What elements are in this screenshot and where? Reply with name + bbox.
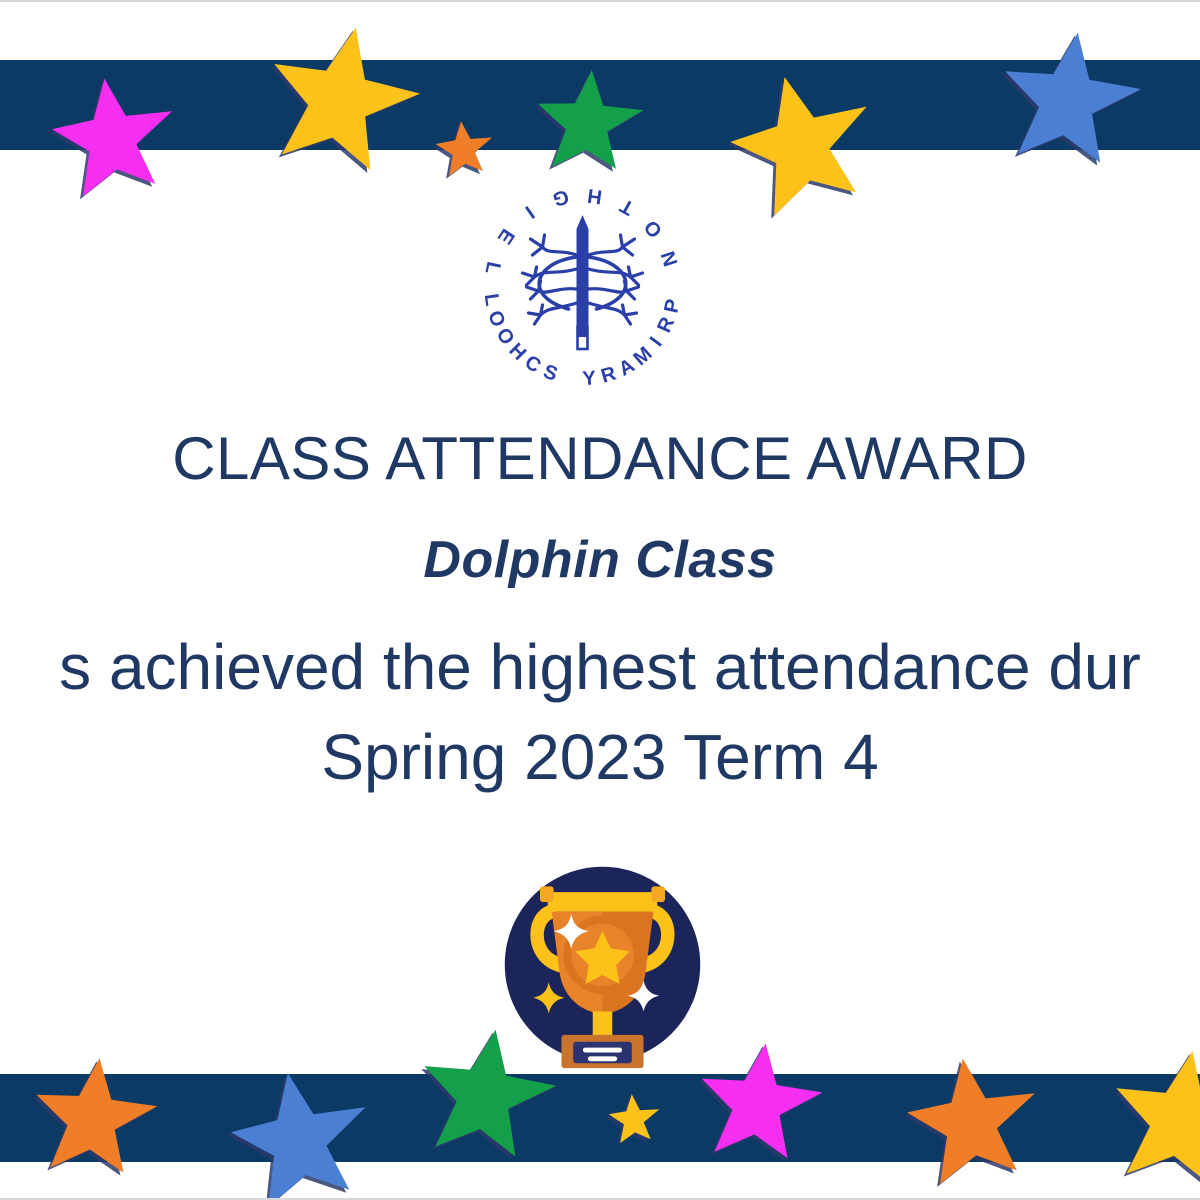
svg-text:O: O [640, 216, 667, 242]
svg-text:R: R [599, 362, 620, 387]
leighton-primary-school-logo: LEIGHTONPRIMARYSCHOOL [470, 177, 695, 397]
achievement-text-line: s achieved the highest attendance dur [0, 630, 1200, 704]
svg-text:I: I [521, 201, 538, 222]
svg-text:Y: Y [582, 367, 598, 390]
svg-text:N: N [657, 248, 682, 269]
svg-text:P: P [660, 297, 684, 315]
svg-text:R: R [653, 313, 679, 336]
svg-text:L: L [480, 260, 504, 277]
svg-text:G: G [551, 185, 571, 210]
logo-tree-emblem [523, 215, 643, 349]
svg-text:E: E [493, 225, 519, 248]
class-name-text: Dolphin Class [0, 530, 1200, 590]
term-text-line: Spring 2023 Term 4 [0, 720, 1200, 794]
svg-text:S: S [540, 361, 560, 386]
svg-text:H: H [586, 184, 603, 208]
top-decorative-band [0, 60, 1200, 150]
certificate-page: LEIGHTONPRIMARYSCHOOL [0, 0, 1200, 1200]
trophy-badge-icon [495, 857, 710, 1072]
svg-text:I: I [646, 333, 667, 351]
svg-text:L: L [480, 292, 503, 307]
bottom-decorative-band [0, 1074, 1200, 1162]
svg-text:T: T [617, 194, 638, 219]
page-title: CLASS ATTENDANCE AWARD [0, 424, 1200, 493]
